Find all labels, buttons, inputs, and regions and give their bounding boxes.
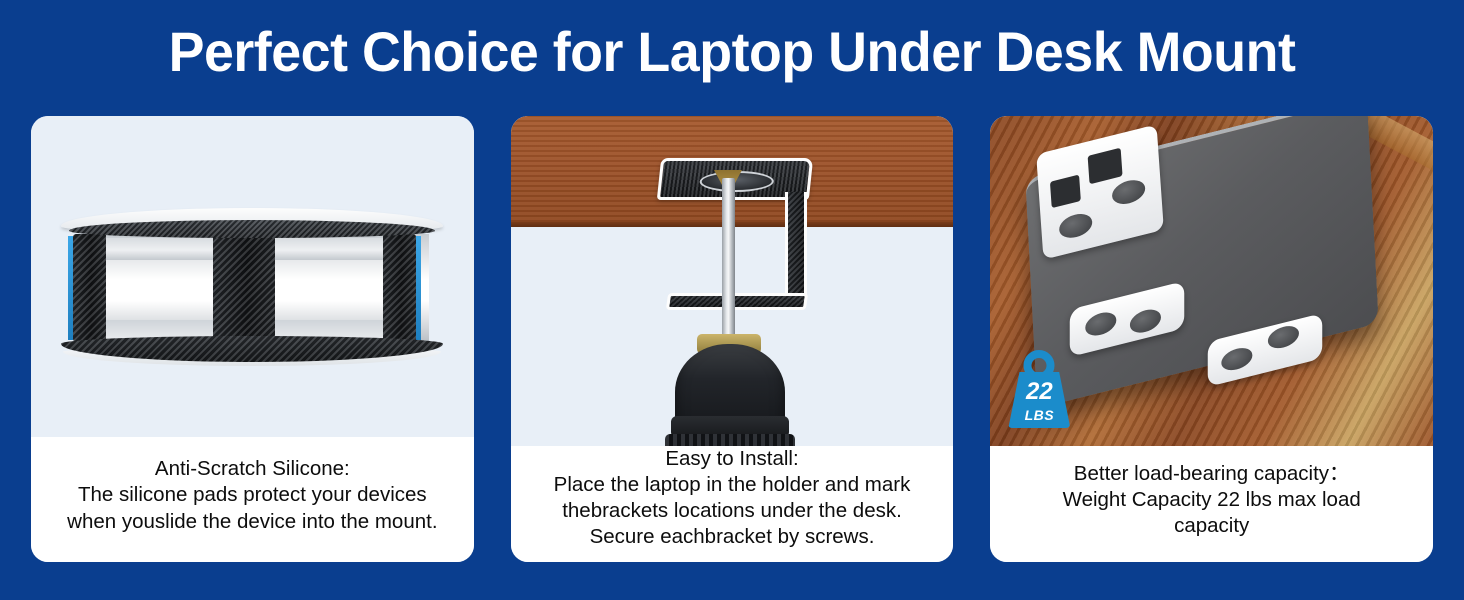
weight-badge-unit: LBS <box>1008 408 1070 422</box>
product-photo-install-drill <box>511 116 954 446</box>
bracket-screw-hole <box>1086 309 1117 338</box>
product-photo-mounted-laptop: 22 LBS <box>990 116 1433 446</box>
screw-shaft <box>722 178 735 343</box>
caption-line: The silicone pads protect your devices <box>78 482 427 508</box>
mount-shelf-upper-right <box>275 238 383 260</box>
bracket-slot <box>1050 175 1081 209</box>
feature-card-list: Anti-Scratch Silicone: The silicone pads… <box>31 116 1433 562</box>
mount-rim-right <box>416 236 421 340</box>
card-caption-capacity: Better load-bearing capacity： Weight Cap… <box>990 446 1433 562</box>
card-caption-install: Easy to Install: Place the laptop in the… <box>511 446 954 562</box>
clamp-vertical-arm <box>785 192 807 298</box>
feature-card-easy-to-install[interactable]: Easy to Install: Place the laptop in the… <box>511 116 954 562</box>
product-photo-silicone-mount <box>31 116 474 437</box>
bracket-screw-hole <box>1268 323 1299 351</box>
caption-line: Anti-Scratch Silicone: <box>155 456 350 482</box>
clamp-bottom-foot <box>665 293 807 310</box>
mount-shelf-upper-left <box>106 238 213 260</box>
caption-line: Better load-bearing capacity： <box>1074 461 1350 487</box>
mount-top-edge <box>69 220 435 238</box>
bracket-screw-hole <box>1222 345 1253 373</box>
caption-line: capacity <box>1174 513 1249 539</box>
caption-line: thebrackets locations under the desk. <box>562 498 902 524</box>
mount-illustration <box>61 208 443 368</box>
caption-line: when youslide the device into the mount. <box>67 509 437 535</box>
feature-card-anti-scratch-silicone[interactable]: Anti-Scratch Silicone: The silicone pads… <box>31 116 474 562</box>
feature-card-load-capacity[interactable]: 22 LBS Better load-bearing capacity： Wei… <box>990 116 1433 562</box>
bracket-slot <box>1088 148 1123 185</box>
mount-post-right <box>383 234 416 342</box>
bracket-screw-hole <box>1130 306 1161 335</box>
caption-line: Weight Capacity 22 lbs max load <box>1063 487 1361 513</box>
mount-post-left <box>73 234 106 342</box>
page-title: Perfect Choice for Laptop Under Desk Mou… <box>29 22 1434 82</box>
caption-line: Place the laptop in the holder and mark <box>554 472 911 498</box>
weight-capacity-badge-icon: 22 LBS <box>1008 350 1070 428</box>
card-caption-silicone: Anti-Scratch Silicone: The silicone pads… <box>31 437 474 562</box>
caption-line: Secure eachbracket by screws. <box>590 524 875 550</box>
mount-post-middle <box>213 234 275 342</box>
infographic-page: Perfect Choice for Laptop Under Desk Mou… <box>0 0 1464 600</box>
bracket-screw-hole <box>1059 211 1094 242</box>
weight-badge-value: 22 <box>1008 380 1070 404</box>
drill-grip <box>665 434 795 446</box>
caption-line: Easy to Install: <box>665 446 798 472</box>
bracket-screw-hole <box>1112 177 1147 208</box>
